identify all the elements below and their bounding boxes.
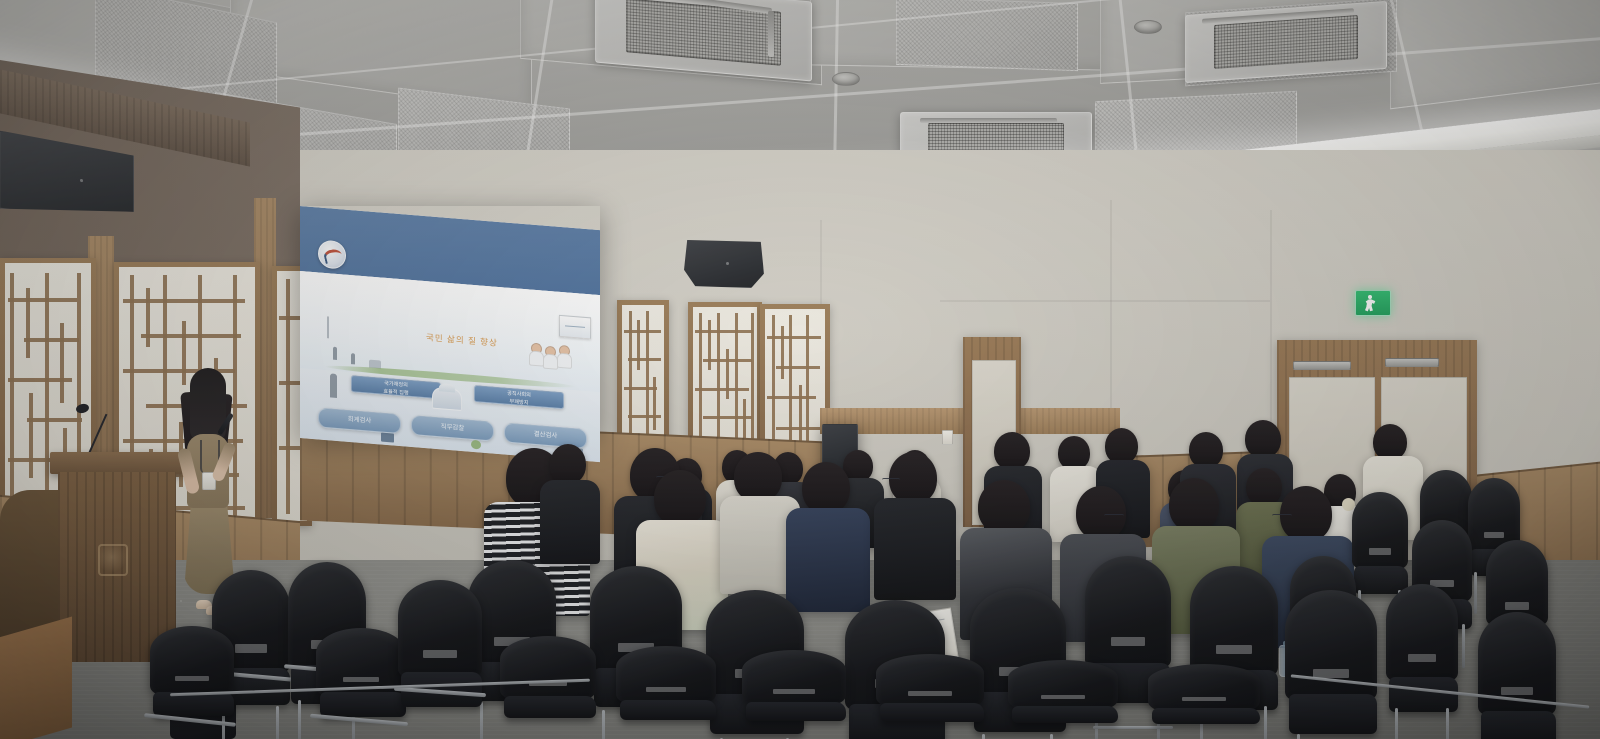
chair-front-empty[interactable] — [616, 646, 716, 739]
chair-front-empty[interactable] — [1148, 664, 1260, 739]
slide-figure — [351, 354, 355, 365]
ceiling-ac-unit — [595, 0, 812, 81]
chair-empty[interactable] — [1386, 584, 1458, 739]
attendee-front-left — [540, 444, 600, 564]
projected-slide: 한눈에 보는 감사원(책무) 국민 삶의 질 향상 — [300, 206, 600, 462]
ceiling-ac-unit — [1185, 1, 1387, 83]
slide-body: 국민 삶의 질 향상 국가재정의 — [300, 271, 600, 462]
chair-front-empty[interactable] — [876, 654, 984, 739]
slide-building — [369, 360, 381, 369]
podium-top — [50, 452, 184, 474]
chair-front-empty[interactable] — [500, 636, 596, 739]
door-closer — [1385, 358, 1439, 367]
chair-front-empty[interactable] — [742, 650, 846, 739]
smoke-detector — [1134, 20, 1162, 34]
lecture-hall-photo: 한눈에 보는 감사원(책무) 국민 삶의 질 향상 — [0, 0, 1600, 739]
attendee-dark-tee-2 — [874, 452, 956, 600]
slide-pole — [327, 317, 329, 339]
smoke-detector — [832, 72, 860, 86]
chair-front-empty[interactable] — [1008, 660, 1118, 739]
running-person-icon — [1365, 295, 1375, 310]
chair-front-empty[interactable] — [150, 626, 234, 739]
slide-family-group — [529, 339, 573, 369]
slide-box-1: 국가재정의 효율적 집행 — [351, 375, 441, 399]
chair-front-empty[interactable] — [398, 580, 482, 739]
slide-mascot-icon — [471, 439, 481, 449]
slide-pill-2: 직무감찰 — [411, 415, 494, 442]
slide-box-2: 공직사회의 부패방지 — [474, 385, 564, 409]
speaker-center-wall — [684, 240, 764, 288]
slide-pill-1: 회계검사 — [318, 408, 401, 435]
chair-occupied[interactable] — [1285, 590, 1377, 739]
podium-emblem — [98, 544, 128, 576]
slide-figure — [333, 347, 337, 360]
slide-monitor-icon — [381, 432, 394, 442]
chair-empty[interactable] — [1478, 612, 1556, 739]
slide-placard — [559, 315, 591, 340]
chair-front-empty[interactable] — [316, 628, 406, 739]
slide-standing-figure — [330, 373, 337, 398]
wall-outlet — [942, 430, 953, 445]
emergency-exit-sign — [1355, 290, 1391, 316]
slide-center-emblem — [432, 387, 462, 411]
side-table — [0, 617, 72, 739]
projection-screen: 한눈에 보는 감사원(책무) 국민 삶의 질 향상 — [300, 206, 600, 438]
door-closer — [1293, 361, 1351, 370]
